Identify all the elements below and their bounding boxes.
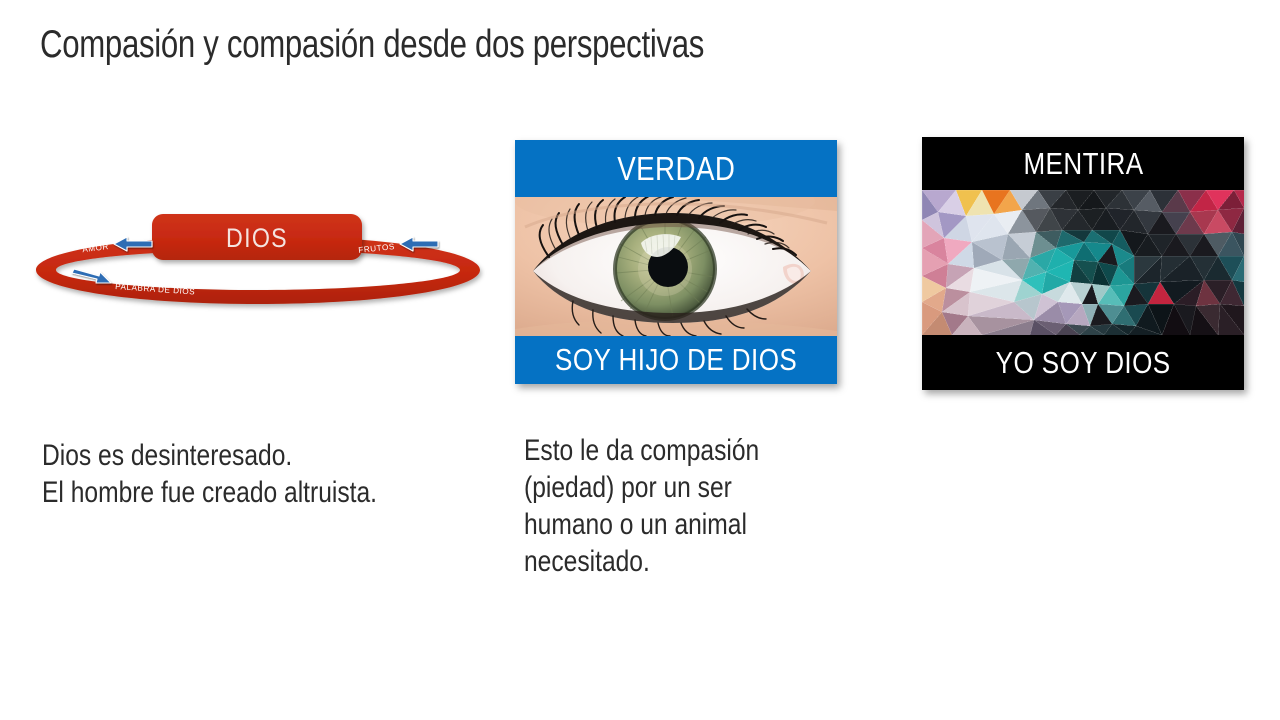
verdad-banner-top: VERDAD bbox=[515, 140, 837, 197]
mentira-banner-top: MENTIRA bbox=[922, 137, 1244, 190]
verdad-banner-bottom-label: SOY HIJO DE DIOS bbox=[555, 342, 797, 378]
low-poly-colorful-eye-image bbox=[922, 190, 1244, 335]
mentira-banner-bottom: YO SOY DIOS bbox=[922, 335, 1244, 390]
left-line-1: Dios es desinteresado. bbox=[42, 437, 427, 474]
middle-line-3: humano o un animal bbox=[524, 506, 795, 543]
page-title: Compasión y compasión desde dos perspect… bbox=[40, 22, 704, 68]
verdad-banner-bottom: SOY HIJO DE DIOS bbox=[515, 336, 837, 384]
body-text-left: Dios es desinteresado. El hombre fue cre… bbox=[42, 437, 512, 511]
left-line-2: El hombre fue creado altruista. bbox=[42, 474, 427, 511]
body-text-middle: Esto le da compasión (piedad) por un ser… bbox=[524, 432, 854, 580]
realistic-green-eye-image bbox=[515, 197, 837, 336]
card-mentira: MENTIRA bbox=[922, 137, 1244, 390]
middle-line-4: necesitado. bbox=[524, 543, 795, 580]
mentira-banner-bottom-label: YO SOY DIOS bbox=[996, 345, 1171, 381]
slide-canvas: Compasión y compasión desde dos perspect… bbox=[0, 0, 1280, 720]
dios-box-label: DIOS bbox=[226, 223, 288, 253]
card-verdad: VERDAD bbox=[515, 140, 837, 384]
cycle-diagram-dios: DIOS AMOR FRUTOS PALABRA DE DIOS bbox=[34, 200, 494, 310]
verdad-banner-top-label: VERDAD bbox=[617, 150, 735, 188]
middle-line-1: Esto le da compasión bbox=[524, 432, 795, 469]
middle-line-2: (piedad) por un ser bbox=[524, 469, 795, 506]
mentira-banner-top-label: MENTIRA bbox=[1023, 146, 1143, 182]
